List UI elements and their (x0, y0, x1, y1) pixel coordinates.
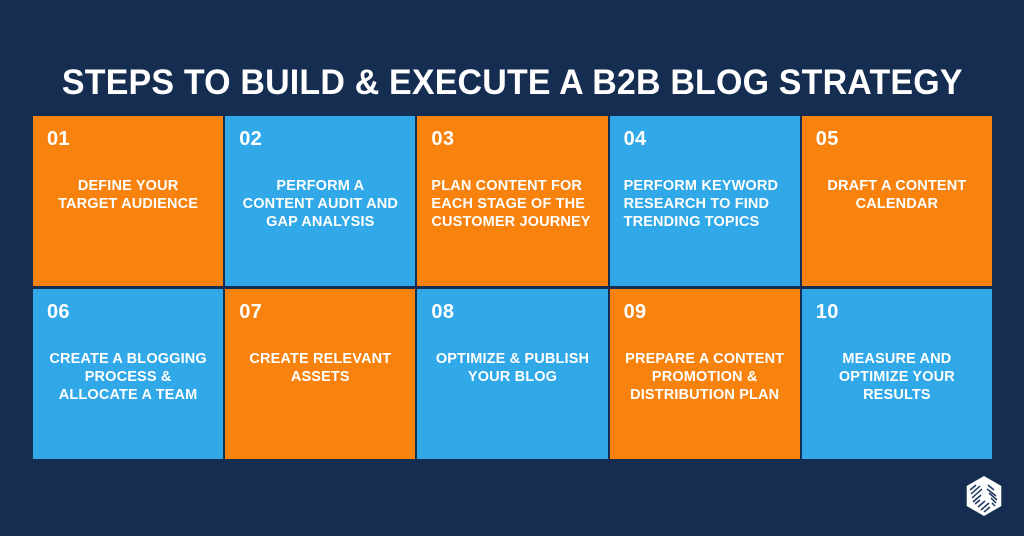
step-card-10: 10MEASURE AND OPTIMIZE YOUR RESULTS (802, 289, 992, 459)
step-label: CREATE RELEVANT ASSETS (239, 350, 401, 386)
step-label: CREATE A BLOGGING PROCESS & ALLOCATE A T… (47, 350, 209, 404)
brand-logo (961, 473, 1007, 519)
step-card-02: 02PERFORM A CONTENT AUDIT AND GAP ANALYS… (225, 116, 415, 286)
step-label: DRAFT A CONTENT CALENDAR (816, 177, 978, 213)
step-label: PERFORM KEYWORD RESEARCH TO FIND TRENDIN… (624, 177, 786, 231)
step-card-07: 07CREATE RELEVANT ASSETS (225, 289, 415, 459)
step-body: PLAN CONTENT FOR EACH STAGE OF THE CUSTO… (431, 150, 593, 276)
hexagon-logo-icon (961, 473, 1007, 519)
step-label: MEASURE AND OPTIMIZE YOUR RESULTS (816, 350, 978, 404)
step-body: DRAFT A CONTENT CALENDAR (816, 150, 978, 276)
step-number: 01 (47, 128, 209, 150)
step-body: OPTIMIZE & PUBLISH YOUR BLOG (431, 323, 593, 449)
step-card-06: 06CREATE A BLOGGING PROCESS & ALLOCATE A… (33, 289, 223, 459)
step-body: PERFORM A CONTENT AUDIT AND GAP ANALYSIS (239, 150, 401, 276)
step-number: 04 (624, 128, 786, 150)
step-number: 09 (624, 301, 786, 323)
step-body: MEASURE AND OPTIMIZE YOUR RESULTS (816, 323, 978, 449)
step-number: 06 (47, 301, 209, 323)
step-card-08: 08OPTIMIZE & PUBLISH YOUR BLOG (417, 289, 607, 459)
step-body: PREPARE A CONTENT PROMOTION & DISTRIBUTI… (624, 323, 786, 449)
infographic-poster: STEPS TO BUILD & EXECUTE A B2B BLOG STRA… (0, 0, 1024, 536)
step-card-05: 05DRAFT A CONTENT CALENDAR (802, 116, 992, 286)
step-number: 07 (239, 301, 401, 323)
step-label: DEFINE YOUR TARGET AUDIENCE (47, 177, 209, 213)
step-body: CREATE A BLOGGING PROCESS & ALLOCATE A T… (47, 323, 209, 449)
page-title-container: STEPS TO BUILD & EXECUTE A B2B BLOG STRA… (0, 40, 1024, 127)
step-label: OPTIMIZE & PUBLISH YOUR BLOG (431, 350, 593, 386)
step-card-01: 01DEFINE YOUR TARGET AUDIENCE (33, 116, 223, 286)
step-body: DEFINE YOUR TARGET AUDIENCE (47, 150, 209, 276)
step-card-09: 09PREPARE A CONTENT PROMOTION & DISTRIBU… (610, 289, 800, 459)
step-card-03: 03PLAN CONTENT FOR EACH STAGE OF THE CUS… (417, 116, 607, 286)
step-body: PERFORM KEYWORD RESEARCH TO FIND TRENDIN… (624, 150, 786, 276)
step-number: 05 (816, 128, 978, 150)
step-label: PLAN CONTENT FOR EACH STAGE OF THE CUSTO… (431, 177, 593, 231)
page-title: STEPS TO BUILD & EXECUTE A B2B BLOG STRA… (62, 63, 963, 103)
steps-grid: 01DEFINE YOUR TARGET AUDIENCE02PERFORM A… (33, 116, 992, 459)
step-label: PREPARE A CONTENT PROMOTION & DISTRIBUTI… (624, 350, 786, 404)
step-number: 02 (239, 128, 401, 150)
step-number: 10 (816, 301, 978, 323)
step-label: PERFORM A CONTENT AUDIT AND GAP ANALYSIS (239, 177, 401, 231)
step-number: 03 (431, 128, 593, 150)
step-card-04: 04PERFORM KEYWORD RESEARCH TO FIND TREND… (610, 116, 800, 286)
step-body: CREATE RELEVANT ASSETS (239, 323, 401, 449)
step-number: 08 (431, 301, 593, 323)
